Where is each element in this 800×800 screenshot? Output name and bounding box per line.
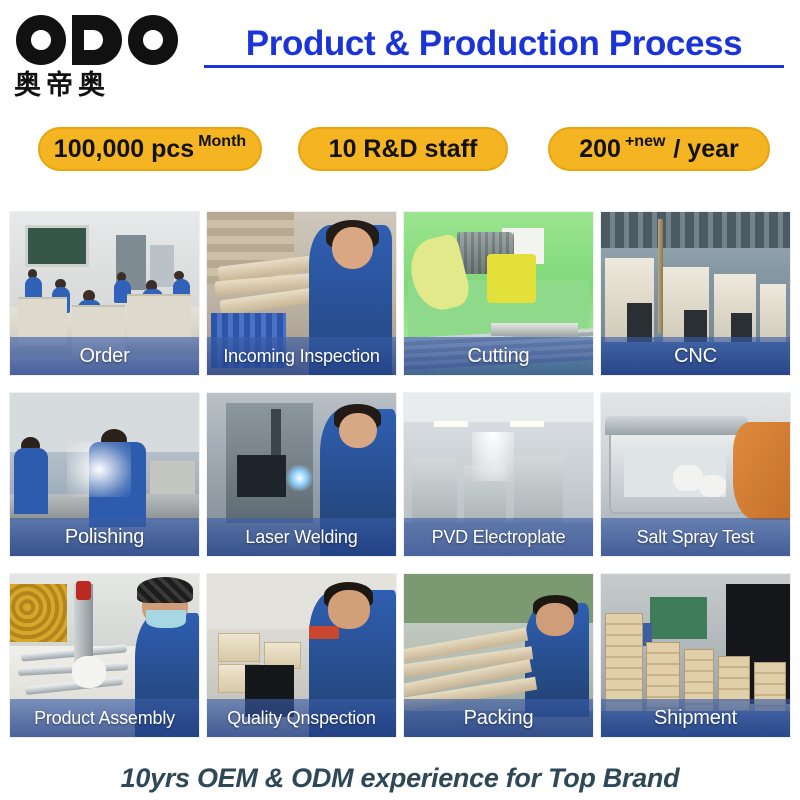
process-row-3: Product Assembly Quality Qnspection (10, 574, 792, 737)
caption-bar: Order (10, 337, 199, 375)
process-tile-polishing[interactable]: Polishing (10, 393, 199, 556)
caption-bar: Product Assembly (10, 699, 199, 737)
process-row-1: Order Incoming Inspection (10, 212, 792, 375)
badge-new-products[interactable]: 200 +new / year (548, 127, 770, 171)
caption-bar: Packing (404, 699, 593, 737)
tile-caption: Laser Welding (245, 527, 357, 548)
badge-new-products-suffix: / year (673, 136, 738, 162)
caption-bar: Cutting (404, 337, 593, 375)
badge-monthly-capacity-sup: Month (198, 133, 246, 151)
caption-bar: Incoming Inspection (207, 337, 396, 375)
caption-bar: Quality Qnspection (207, 699, 396, 737)
process-tile-packing[interactable]: Packing (404, 574, 593, 737)
logo-letter-o-left (16, 15, 66, 65)
tile-caption: Polishing (65, 526, 144, 549)
process-grid: Order Incoming Inspection (10, 212, 792, 755)
caption-bar: Salt Spray Test (601, 518, 790, 556)
process-tile-shipment[interactable]: Shipment (601, 574, 790, 737)
process-tile-pvd-electroplate[interactable]: PVD Electroplate (404, 393, 593, 556)
title-underline (204, 65, 784, 68)
badge-new-products-text: 200 (579, 136, 621, 162)
badge-monthly-capacity-text: 100,000 pcs (54, 136, 194, 162)
tile-caption: Salt Spray Test (637, 527, 755, 548)
company-logo: 奥帝奥 (12, 12, 188, 104)
tile-caption: Packing (464, 707, 534, 730)
caption-bar: Laser Welding (207, 518, 396, 556)
tile-caption: Cutting (468, 345, 530, 368)
badge-new-products-sup: +new (625, 133, 665, 151)
process-row-2: Polishing Laser Welding (10, 393, 792, 556)
process-tile-quality-inspection[interactable]: Quality Qnspection (207, 574, 396, 737)
tile-caption: PVD Electroplate (432, 527, 566, 548)
title-block: Product & Production Process (196, 24, 792, 68)
caption-bar: CNC (601, 337, 790, 375)
process-tile-laser-welding[interactable]: Laser Welding (207, 393, 396, 556)
logo-chinese-name: 奥帝奥 (12, 71, 188, 101)
tile-caption: Shipment (654, 707, 737, 730)
header: 奥帝奥 Product & Production Process (0, 0, 800, 112)
caption-bar: PVD Electroplate (404, 518, 593, 556)
caption-bar: Shipment (601, 699, 790, 737)
tile-caption: Product Assembly (34, 708, 175, 729)
process-tile-cutting[interactable]: Cutting (404, 212, 593, 375)
tile-caption: Quality Qnspection (227, 708, 375, 729)
process-tile-cnc[interactable]: CNC (601, 212, 790, 375)
process-tile-salt-spray-test[interactable]: Salt Spray Test (601, 393, 790, 556)
process-tile-incoming-inspection[interactable]: Incoming Inspection (207, 212, 396, 375)
caption-bar: Polishing (10, 518, 199, 556)
tile-caption: Incoming Inspection (223, 346, 379, 367)
logo-mark-odo (12, 12, 188, 68)
process-tile-order[interactable]: Order (10, 212, 199, 375)
badge-rd-staff[interactable]: 10 R&D staff (298, 127, 508, 171)
footer: 10yrs OEM & ODM experience for Top Brand (0, 763, 800, 794)
logo-letter-o-right (128, 15, 178, 65)
footer-tagline: 10yrs OEM & ODM experience for Top Brand (0, 763, 800, 794)
badge-rd-staff-text: 10 R&D staff (329, 136, 478, 162)
infographic-page: 奥帝奥 Product & Production Process 100,000… (0, 0, 800, 800)
tile-caption: Order (79, 345, 129, 368)
process-tile-product-assembly[interactable]: Product Assembly (10, 574, 199, 737)
logo-letter-d (72, 15, 122, 65)
page-title: Product & Production Process (196, 24, 792, 64)
badge-monthly-capacity[interactable]: 100,000 pcs Month (38, 127, 262, 171)
stats-badge-row: 100,000 pcs Month 10 R&D staff 200 +new … (0, 127, 800, 175)
tile-caption: CNC (674, 345, 717, 368)
